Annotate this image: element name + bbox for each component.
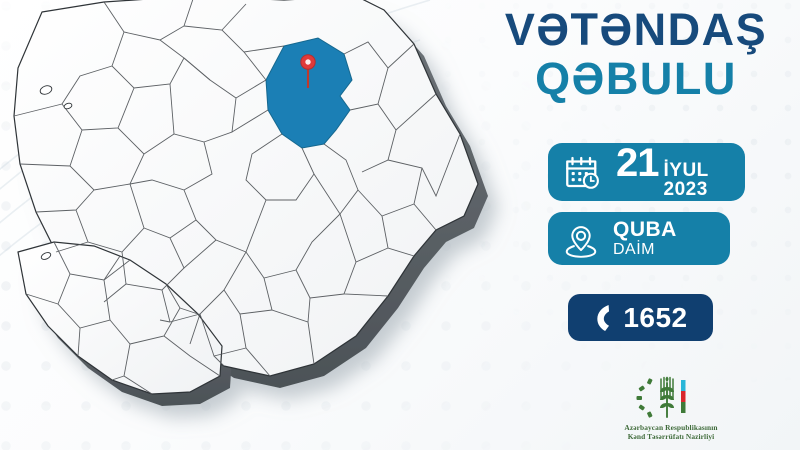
location-subtitle: DAİM [613, 241, 677, 259]
location-city: QUBA [613, 219, 677, 241]
poster-canvas: VƏTƏNDAŞ QƏBULU 21 İYUL 2023 [0, 0, 800, 450]
headline-line-2: QƏBULU [486, 54, 786, 104]
date-year: 2023 [664, 180, 709, 200]
flag-bar-green [681, 402, 686, 413]
phone-icon [593, 303, 619, 333]
logo-text-line-1: Azərbaycan Respublikasının [575, 423, 767, 432]
wheat-gear-flag-icon [634, 376, 708, 420]
ministry-logo: Azərbaycan Respublikasının Kənd Təsərrüf… [575, 376, 767, 442]
phone-number: 1652 [623, 304, 687, 332]
phone-badge[interactable]: 1652 [568, 294, 713, 341]
map-pin-icon [562, 220, 600, 258]
date-badge[interactable]: 21 İYUL 2023 [548, 143, 745, 201]
azerbaijan-map [0, 0, 534, 450]
flag-bar-cyan [681, 380, 686, 391]
poster-headline: VƏTƏNDAŞ QƏBULU [486, 6, 786, 104]
headline-line-1: VƏTƏNDAŞ [486, 6, 786, 54]
date-month: İYUL [664, 161, 709, 180]
calendar-clock-icon [562, 151, 604, 193]
date-day: 21 [616, 144, 659, 182]
logo-text-line-2: Kənd Təsərrüfatı Nazirliyi [575, 432, 767, 441]
location-badge[interactable]: QUBA DAİM [548, 212, 730, 265]
flag-bar-red [681, 391, 686, 402]
